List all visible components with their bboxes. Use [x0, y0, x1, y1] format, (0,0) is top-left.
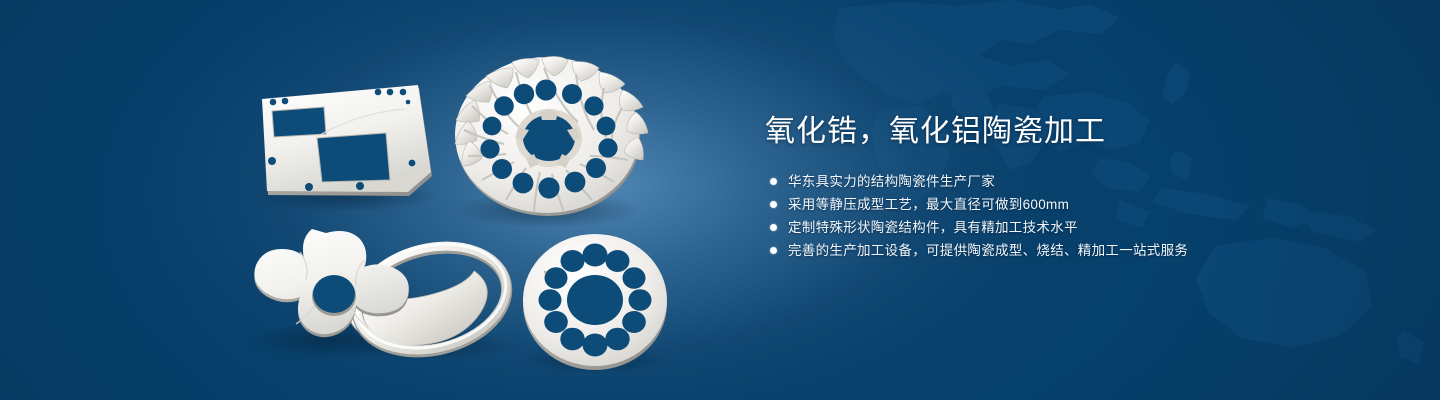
- bullet-dot-icon: [770, 178, 777, 185]
- ceramic-base-plate-photo: [262, 85, 432, 196]
- banner-text-block: 氧化锆，氧化铝陶瓷加工 华东具实力的结构陶瓷件生产厂家 采用等静压成型工艺，最大…: [765, 112, 1385, 262]
- hero-banner: 氧化锆，氧化铝陶瓷加工 华东具实力的结构陶瓷件生产厂家 采用等静压成型工艺，最大…: [0, 0, 1440, 400]
- product-photo-collage: [0, 0, 760, 400]
- feature-text: 采用等静压成型工艺，最大直径可做到600mm: [788, 193, 1069, 216]
- ceramic-impeller-photo: [455, 56, 648, 216]
- list-item: 采用等静压成型工艺，最大直径可做到600mm: [765, 193, 1385, 216]
- bullet-dot-icon: [770, 247, 777, 254]
- bullet-dot-icon: [770, 224, 777, 231]
- list-item: 定制特殊形状陶瓷结构件，具有精加工技术水平: [765, 216, 1385, 239]
- feature-list: 华东具实力的结构陶瓷件生产厂家 采用等静压成型工艺，最大直径可做到600mm 定…: [765, 170, 1385, 262]
- feature-text: 华东具实力的结构陶瓷件生产厂家: [788, 170, 995, 193]
- feature-text: 定制特殊形状陶瓷结构件，具有精加工技术水平: [788, 216, 1078, 239]
- list-item: 完善的生产加工设备，可提供陶瓷成型、烧结、精加工一站式服务: [765, 239, 1385, 262]
- bullet-dot-icon: [770, 201, 777, 208]
- page-title: 氧化锆，氧化铝陶瓷加工: [765, 112, 1385, 152]
- list-item: 华东具实力的结构陶瓷件生产厂家: [765, 170, 1385, 193]
- feature-text: 完善的生产加工设备，可提供陶瓷成型、烧结、精加工一站式服务: [788, 239, 1188, 262]
- ceramic-valve-plate-photo: [523, 234, 667, 370]
